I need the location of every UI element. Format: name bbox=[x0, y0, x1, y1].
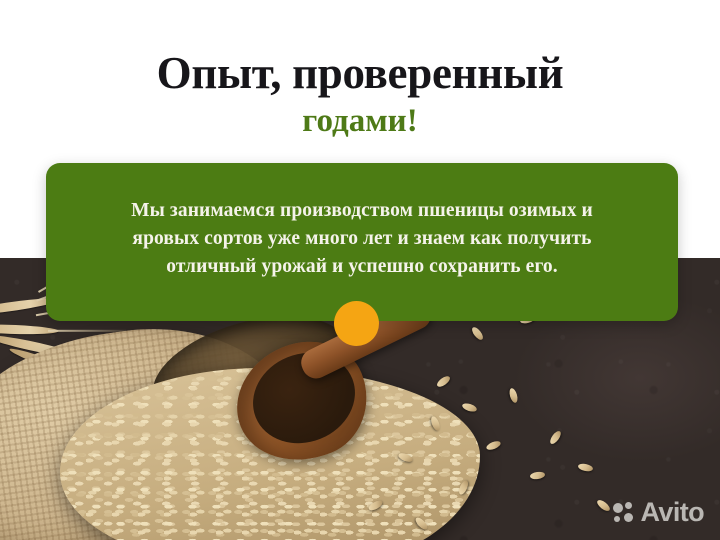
promo-banner: Опыт, проверенный годами! Мы занимаемся … bbox=[0, 0, 720, 540]
avito-watermark: Avito bbox=[613, 499, 705, 526]
avito-logo-icon bbox=[613, 502, 635, 524]
page-title: Опыт, проверенный годами! bbox=[0, 50, 720, 139]
orange-accent-dot bbox=[334, 301, 379, 346]
title-line-primary: Опыт, проверенный bbox=[0, 50, 720, 98]
description-card: Мы занимаемся производством пшеницы озим… bbox=[46, 163, 678, 321]
description-text: Мы занимаемся производством пшеницы озим… bbox=[100, 197, 624, 280]
avito-wordmark: Avito bbox=[641, 499, 705, 526]
title-line-accent: годами! bbox=[0, 104, 720, 139]
